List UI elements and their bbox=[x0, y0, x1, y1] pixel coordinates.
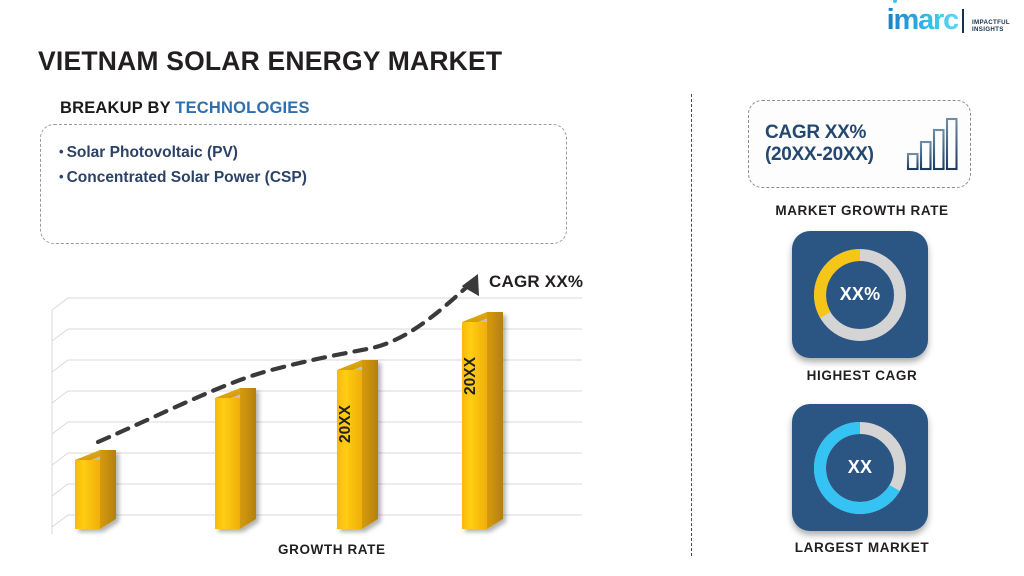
cagr-card-text: CAGR XX% (20XX-20XX) bbox=[765, 122, 874, 167]
chart-x-axis-label: GROWTH RATE bbox=[278, 542, 386, 557]
market-growth-rate-caption: MARKET GROWTH RATE bbox=[700, 203, 1024, 218]
logo-wordmark: imarc bbox=[887, 6, 958, 35]
list-item-label: Solar Photovoltaic (PV) bbox=[67, 144, 238, 161]
largest-market-caption: LARGEST MARKET bbox=[700, 540, 1024, 555]
breakup-accent: TECHNOLOGIES bbox=[175, 99, 309, 117]
page-title: VIETNAM SOLAR ENERGY MARKET bbox=[38, 46, 502, 77]
imarc-logo: imarc IMPACTFUL INSIGHTS bbox=[887, 6, 1010, 35]
highest-cagr-caption: HIGHEST CAGR bbox=[700, 368, 1024, 383]
slide-canvas: imarc IMPACTFUL INSIGHTS VIETNAM SOLAR E… bbox=[0, 0, 1024, 576]
trend-line bbox=[98, 270, 489, 442]
bar-4-label: 20XX bbox=[462, 356, 479, 395]
growth-rate-bar-chart: 20XX 20XX bbox=[42, 264, 602, 539]
kpi-panel: CAGR XX% (20XX-20XX) MARKET GROWTH RATE bbox=[700, 90, 1024, 570]
list-item: •Concentrated Solar Power (CSP) bbox=[59, 165, 566, 190]
technologies-box: •Solar Photovoltaic (PV) •Concentrated S… bbox=[40, 124, 567, 244]
bar-3-label: 20XX bbox=[337, 404, 354, 443]
trend-arrowhead bbox=[462, 270, 489, 297]
logo-tagline-line2: INSIGHTS bbox=[972, 26, 1010, 33]
highest-cagr-card: XX% bbox=[792, 231, 928, 358]
bar-2 bbox=[215, 388, 256, 529]
logo-wordmark-text: imarc bbox=[887, 4, 958, 36]
bar-1 bbox=[75, 450, 116, 529]
largest-market-value: XX bbox=[848, 457, 872, 478]
bar-4 bbox=[462, 312, 503, 529]
bullet-icon: • bbox=[59, 144, 64, 159]
chart-svg: 20XX 20XX bbox=[42, 264, 602, 539]
market-growth-rate-card: CAGR XX% (20XX-20XX) bbox=[748, 100, 971, 188]
logo-tagline-line1: IMPACTFUL bbox=[972, 19, 1010, 26]
bar-3 bbox=[337, 360, 378, 529]
logo-tagline: IMPACTFUL INSIGHTS bbox=[972, 19, 1010, 35]
cagr-card-line1: CAGR XX% bbox=[765, 122, 874, 144]
list-item: •Solar Photovoltaic (PV) bbox=[59, 140, 566, 165]
highest-cagr-value: XX% bbox=[840, 284, 881, 305]
logo-dot-icon bbox=[893, 0, 897, 3]
panel-divider bbox=[691, 94, 692, 556]
chart-cagr-annotation: CAGR XX% bbox=[489, 272, 583, 292]
breakup-subtitle: BREAKUP BY TECHNOLOGIES bbox=[60, 99, 310, 118]
logo-divider bbox=[962, 9, 964, 33]
cagr-card-line2: (20XX-20XX) bbox=[765, 144, 874, 166]
bar-chart-icon bbox=[906, 116, 958, 172]
breakup-prefix: BREAKUP BY bbox=[60, 99, 175, 117]
bullet-icon: • bbox=[59, 169, 64, 184]
largest-market-card: XX bbox=[792, 404, 928, 531]
list-item-label: Concentrated Solar Power (CSP) bbox=[67, 169, 307, 186]
